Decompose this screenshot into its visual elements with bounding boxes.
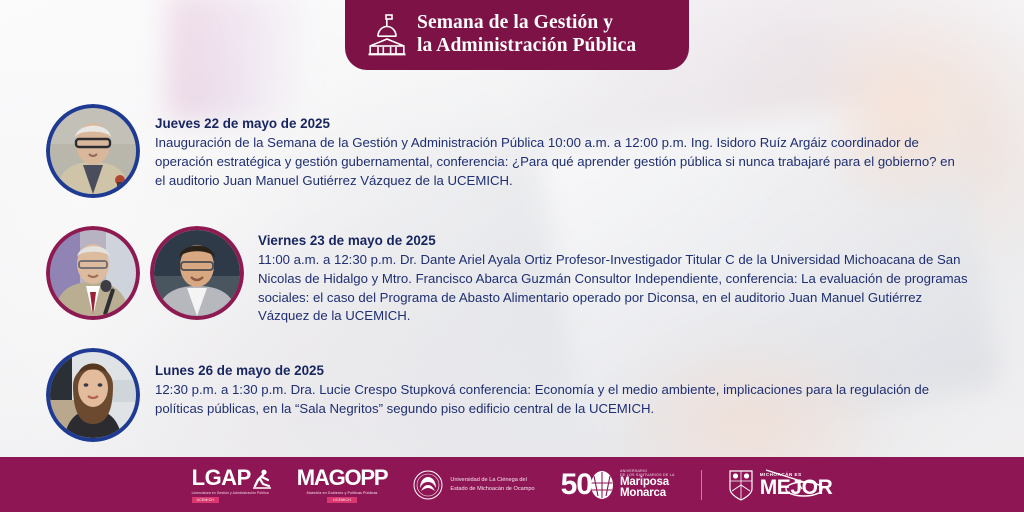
event-date: Lunes 26 de mayo de 2025 — [155, 362, 965, 380]
event-item-lunes-26: Lunes 26 de mayo de 2025 12:30 p.m. a 1:… — [46, 348, 1006, 442]
lgap-badge: UCEMICH — [192, 497, 220, 503]
lgap-subtitle: Licenciatura en Gestión y Administración… — [192, 491, 269, 495]
mariposa-text: ANIVERSARIO DE LOS SANTUARIOS DE LA Mari… — [620, 470, 675, 499]
event-date: Jueves 22 de mayo de 2025 — [155, 115, 965, 133]
header-banner: Semana de la Gestión y la Administración… — [345, 0, 689, 70]
photo-ring — [46, 104, 140, 198]
ucemich-logo: Universidad de La Ciénega del Estado de … — [413, 470, 534, 500]
lgap-acronym: LGAP — [192, 467, 251, 489]
michoacan-shield-icon — [728, 469, 754, 501]
michoacan-es-mejor-logo: MICHOACÁN ES MEJOR — [728, 469, 833, 501]
header-title-line-1: Semana de la Gestión y — [417, 12, 636, 35]
photo-lucie-crespo-stupkova — [46, 348, 140, 442]
magopp-logo: MAGOPP Maestría en Gobierno y Políticas … — [297, 467, 388, 503]
poster-root: Semana de la Gestión y la Administración… — [0, 0, 1024, 512]
event-item-jueves-22: Jueves 22 de mayo de 2025 Inauguración d… — [46, 104, 1006, 198]
lgap-logo: LGAP Licenciatura en Gestión y Administr… — [192, 467, 271, 503]
event-description: 11:00 a.m. a 12:30 p.m. Dr. Dante Ariel … — [258, 251, 968, 326]
event-photos — [46, 226, 244, 320]
photo-dante-ariel-ayala-ortiz — [46, 226, 140, 320]
footer-divider — [701, 470, 702, 500]
event-photos — [46, 348, 140, 442]
event-date: Viernes 23 de mayo de 2025 — [258, 232, 968, 250]
event-text: Jueves 22 de mayo de 2025 Inauguración d… — [155, 104, 965, 190]
butterfly-icon — [589, 470, 615, 500]
running-person-icon — [253, 469, 271, 489]
event-description: 12:30 p.m. a 1:30 p.m. Dra. Lucie Crespo… — [155, 381, 965, 418]
photo-francisco-abarca-guzman — [150, 226, 244, 320]
ucemich-line-1: Universidad de La Ciénega del — [450, 476, 534, 484]
magopp-badge: UCEMICH — [327, 497, 357, 503]
capitol-building-icon — [367, 13, 407, 57]
michoacan-big-text: MEJOR — [760, 477, 833, 498]
events-list: Jueves 22 de mayo de 2025 Inauguración d… — [0, 0, 1024, 512]
footer-logo-bar: LGAP Licenciatura en Gestión y Administr… — [0, 457, 1024, 512]
event-item-viernes-23: Viernes 23 de mayo de 2025 11:00 a.m. a … — [46, 226, 1006, 326]
magopp-subtitle: Maestría en Gobierno y Políticas Pública… — [307, 491, 378, 495]
mariposa-monarca-logo: 50 ANIVERSARIO DE LOS SANTUARIOS DE LA M… — [561, 470, 675, 500]
photo-ring — [46, 226, 140, 320]
michoacan-wordmark: MICHOACÁN ES MEJOR — [760, 472, 833, 498]
lgap-wordmark: LGAP — [192, 467, 271, 489]
photo-ring — [46, 348, 140, 442]
ucemich-seal-icon — [413, 470, 443, 500]
event-text: Viernes 23 de mayo de 2025 11:00 a.m. a … — [258, 226, 968, 326]
event-description: Inauguración de la Semana de la Gestión … — [155, 134, 965, 190]
anniversary-number: 50 — [561, 471, 592, 498]
magopp-acronym: MAGOPP — [297, 467, 388, 489]
header-title-line-2: la Administración Pública — [417, 35, 636, 58]
ucemich-line-2: Estado de Michoacán de Ocampo — [450, 485, 534, 493]
mariposa-big-line-2: Monarca — [620, 488, 675, 500]
ucemich-name: Universidad de La Ciénega del Estado de … — [450, 476, 534, 492]
event-photos — [46, 104, 140, 198]
event-text: Lunes 26 de mayo de 2025 12:30 p.m. a 1:… — [155, 348, 965, 419]
header-title: Semana de la Gestión y la Administración… — [417, 12, 636, 57]
photo-isidoro-ruiz-argaiz — [46, 104, 140, 198]
photo-ring — [150, 226, 244, 320]
